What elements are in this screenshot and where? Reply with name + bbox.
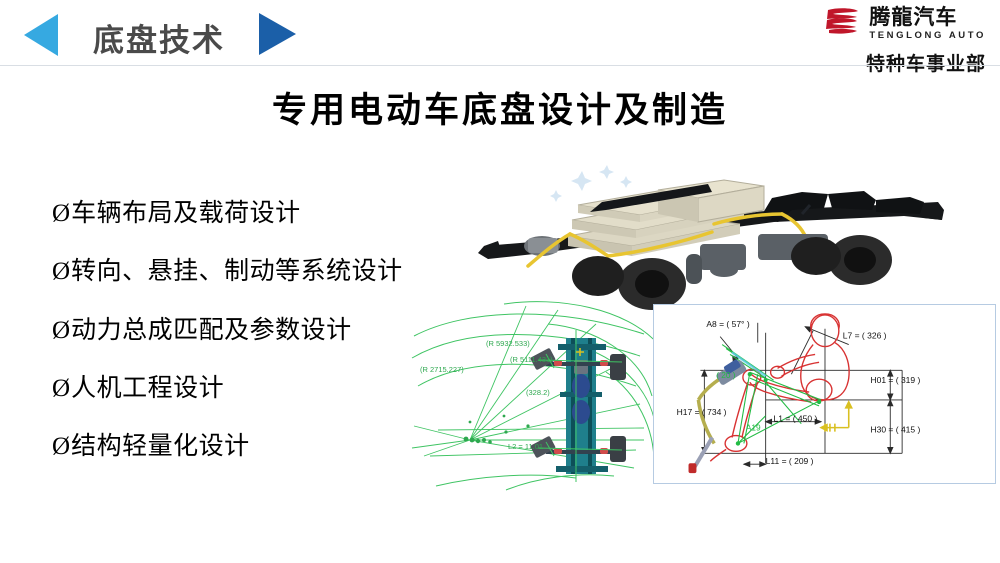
bullet-marker-icon: Ø — [52, 376, 70, 402]
bullet-marker-icon: Ø — [52, 318, 70, 344]
svg-text:(R 2715.227): (R 2715.227) — [420, 365, 464, 374]
list-item-label: 动力总成匹配及参数设计 — [71, 317, 352, 343]
turning-circle-cad: (R 5932.533) (R 5111.431) (R 2715.227) (… — [408, 300, 658, 492]
header-divider — [0, 65, 1000, 66]
dim-label-A20: ( 20 ) — [716, 370, 736, 380]
brand-name-cn: 腾龍汽车 — [869, 6, 957, 29]
list-item-label: 结构轻量化设计 — [71, 433, 250, 459]
section-title: 底盘技术 — [93, 15, 225, 60]
list-item-label: 转向、悬挂、制动等系统设计 — [71, 258, 403, 284]
brand-department: 特种车事业部 — [824, 49, 986, 76]
svg-text:(R 5932.533): (R 5932.533) — [486, 339, 530, 348]
dim-label-L1: L1 = ( 450 ) — [774, 414, 818, 424]
triangle-left-icon[interactable] — [24, 14, 58, 56]
svg-text:(R 5111.431): (R 5111.431) — [510, 355, 553, 364]
dim-label-H17: H17 = ( 734 ) — [677, 407, 727, 417]
list-item-label: 车辆布局及载荷设计 — [71, 200, 301, 226]
svg-text:L2 = 11.01: L2 = 11.01 — [508, 442, 543, 451]
bullet-marker-icon: Ø — [52, 259, 70, 285]
dim-label-A8: A8 = ( 57° ) — [706, 319, 749, 329]
brand-name-en: TENGLONG AUTO — [869, 31, 986, 41]
dim-label-L7: L7 = ( 326 ) — [843, 331, 887, 341]
ev-chassis-3d-render — [472, 158, 996, 318]
list-item-label: 人机工程设计 — [71, 375, 224, 401]
bullet-marker-icon: Ø — [52, 434, 70, 460]
bullet-marker-icon: Ø — [52, 201, 70, 227]
dim-label-H30: H30 = ( 415 ) — [870, 425, 920, 435]
dim-label-A19: A19 — [746, 423, 761, 433]
sae-hpoint-manikin-diagram: A8 = ( 57° ) L7 = ( 326 ) H01 = ( 319 ) … — [653, 304, 996, 484]
tenglong-s-mark-icon — [824, 6, 862, 41]
triangle-right-icon[interactable] — [259, 13, 296, 55]
svg-text:(328.2): (328.2) — [526, 388, 550, 397]
page-title: 专用电动车底盘设计及制造 — [0, 82, 1000, 133]
slide-canvas: 底盘技术 腾龍汽车 TENGLONG AUTO — [0, 0, 1000, 563]
dim-label-H01: H01 = ( 319 ) — [870, 375, 920, 385]
dim-label-L11: L11 = ( 209 ) — [766, 456, 814, 466]
list-item: Ø 车辆布局及载荷设计 — [52, 200, 472, 227]
slide-header: 底盘技术 腾龍汽车 TENGLONG AUTO — [0, 0, 1000, 66]
list-item: Ø 转向、悬挂、制动等系统设计 — [52, 258, 472, 285]
